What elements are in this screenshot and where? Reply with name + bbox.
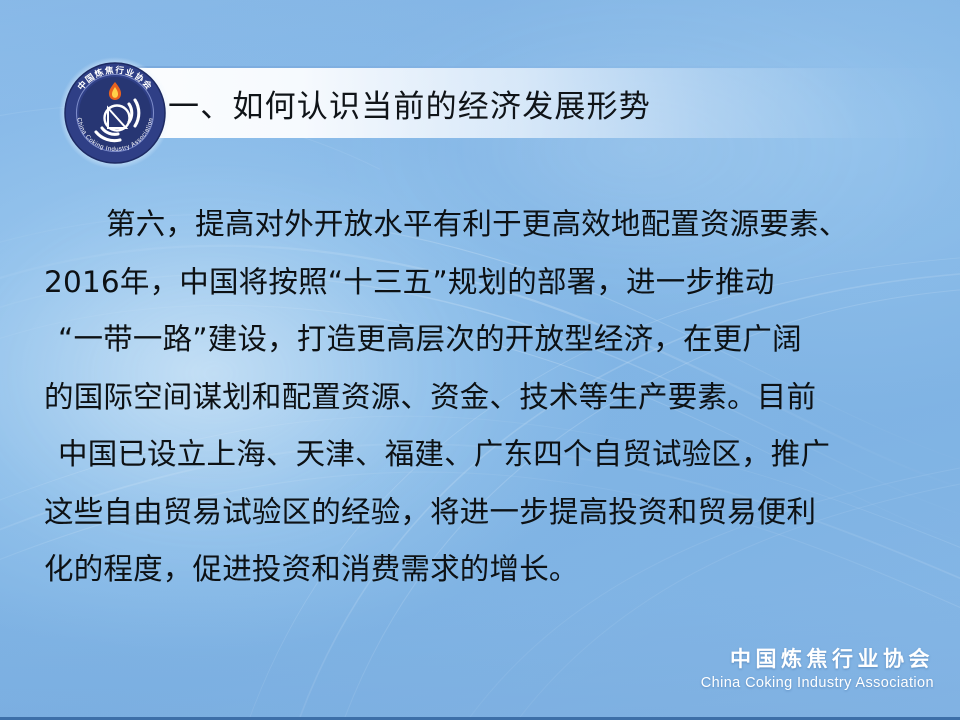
body-line: 这些自由贸易试验区的经验，将进一步提高投资和贸易便利 xyxy=(44,484,924,542)
body-line: 2016年，中国将按照“十三五”规划的部署，进一步推动 xyxy=(44,254,924,312)
body-line: 化的程度，促进投资和消费需求的增长。 xyxy=(44,541,924,599)
body-line: “一带一路”建设，打造更高层次的开放型经济，在更广阔 xyxy=(44,311,924,369)
body-line: 第六，提高对外开放水平有利于更高效地配置资源要素、 xyxy=(44,196,924,254)
footer-branding: 中国炼焦行业协会 China Coking Industry Associati… xyxy=(701,646,934,691)
presentation-slide: 一、如何认识当前的经济发展形势 中国炼焦行业协会 China xyxy=(0,0,960,720)
footer-org-name-cn: 中国炼焦行业协会 xyxy=(701,646,934,672)
body-line: 中国已设立上海、天津、福建、广东四个自贸试验区，推广 xyxy=(44,426,924,484)
slide-body-text: 第六，提高对外开放水平有利于更高效地配置资源要素、 2016年，中国将按照“十三… xyxy=(44,196,924,599)
page-title: 一、如何认识当前的经济发展形势 xyxy=(168,68,651,138)
body-line: 的国际空间谋划和配置资源、资金、技术等生产要素。目前 xyxy=(44,369,924,427)
footer-org-name-en: China Coking Industry Association xyxy=(701,675,934,691)
association-logo-icon: 中国炼焦行业协会 China Coking Industry Associati… xyxy=(58,56,172,170)
